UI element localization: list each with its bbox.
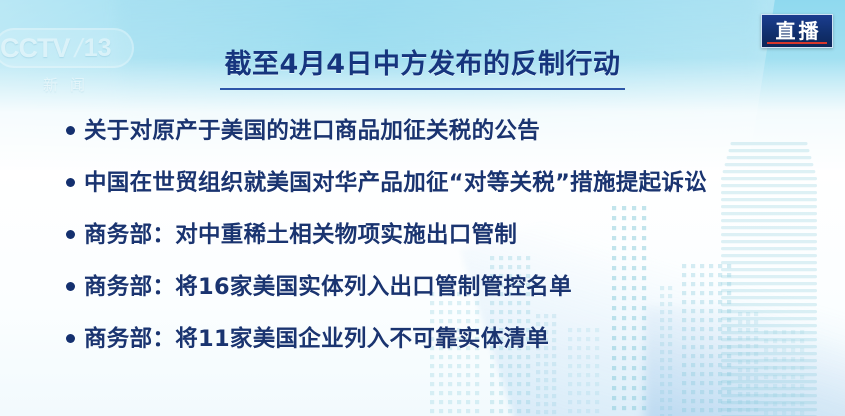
list-item: 商务部：对中重稀土相关物项实施出口管制 [66,207,815,259]
list-item: 中国在世贸组织就美国对华产品加征“对等关税”措施提起诉讼 [66,155,815,207]
list-item-label: 关于对原产于美国的进口商品加征关税的公告 [84,113,540,145]
broadcast-graphic: CCTV / 13 新闻 直播 截至4月4日中方发布的反制行动 关于对原产于美国… [0,0,845,416]
headline-container: 截至4月4日中方发布的反制行动 [0,42,845,90]
live-badge-label: 直播 [773,21,822,41]
list-item-label: 商务部：将16家美国实体列入出口管制管控名单 [84,269,572,301]
list-item: 关于对原产于美国的进口商品加征关税的公告 [66,103,815,155]
list-item-label: 商务部：对中重稀土相关物项实施出口管制 [84,217,517,249]
list-item: 商务部：将11家美国企业列入不可靠实体清单 [66,311,815,363]
measures-list: 关于对原产于美国的进口商品加征关税的公告 中国在世贸组织就美国对华产品加征“对等… [66,103,815,363]
list-item: 商务部：将16家美国实体列入出口管制管控名单 [66,259,815,311]
bullet-dot-icon [66,126,75,135]
bullet-dot-icon [66,282,75,291]
bullet-dot-icon [66,178,75,187]
list-item-label: 商务部：将11家美国企业列入不可靠实体清单 [84,321,549,353]
bullet-dot-icon [66,334,75,343]
list-item-label: 中国在世贸组织就美国对华产品加征“对等关税”措施提起诉讼 [84,165,707,197]
bullet-dot-icon [66,230,75,239]
page-title: 截至4月4日中方发布的反制行动 [220,42,624,90]
